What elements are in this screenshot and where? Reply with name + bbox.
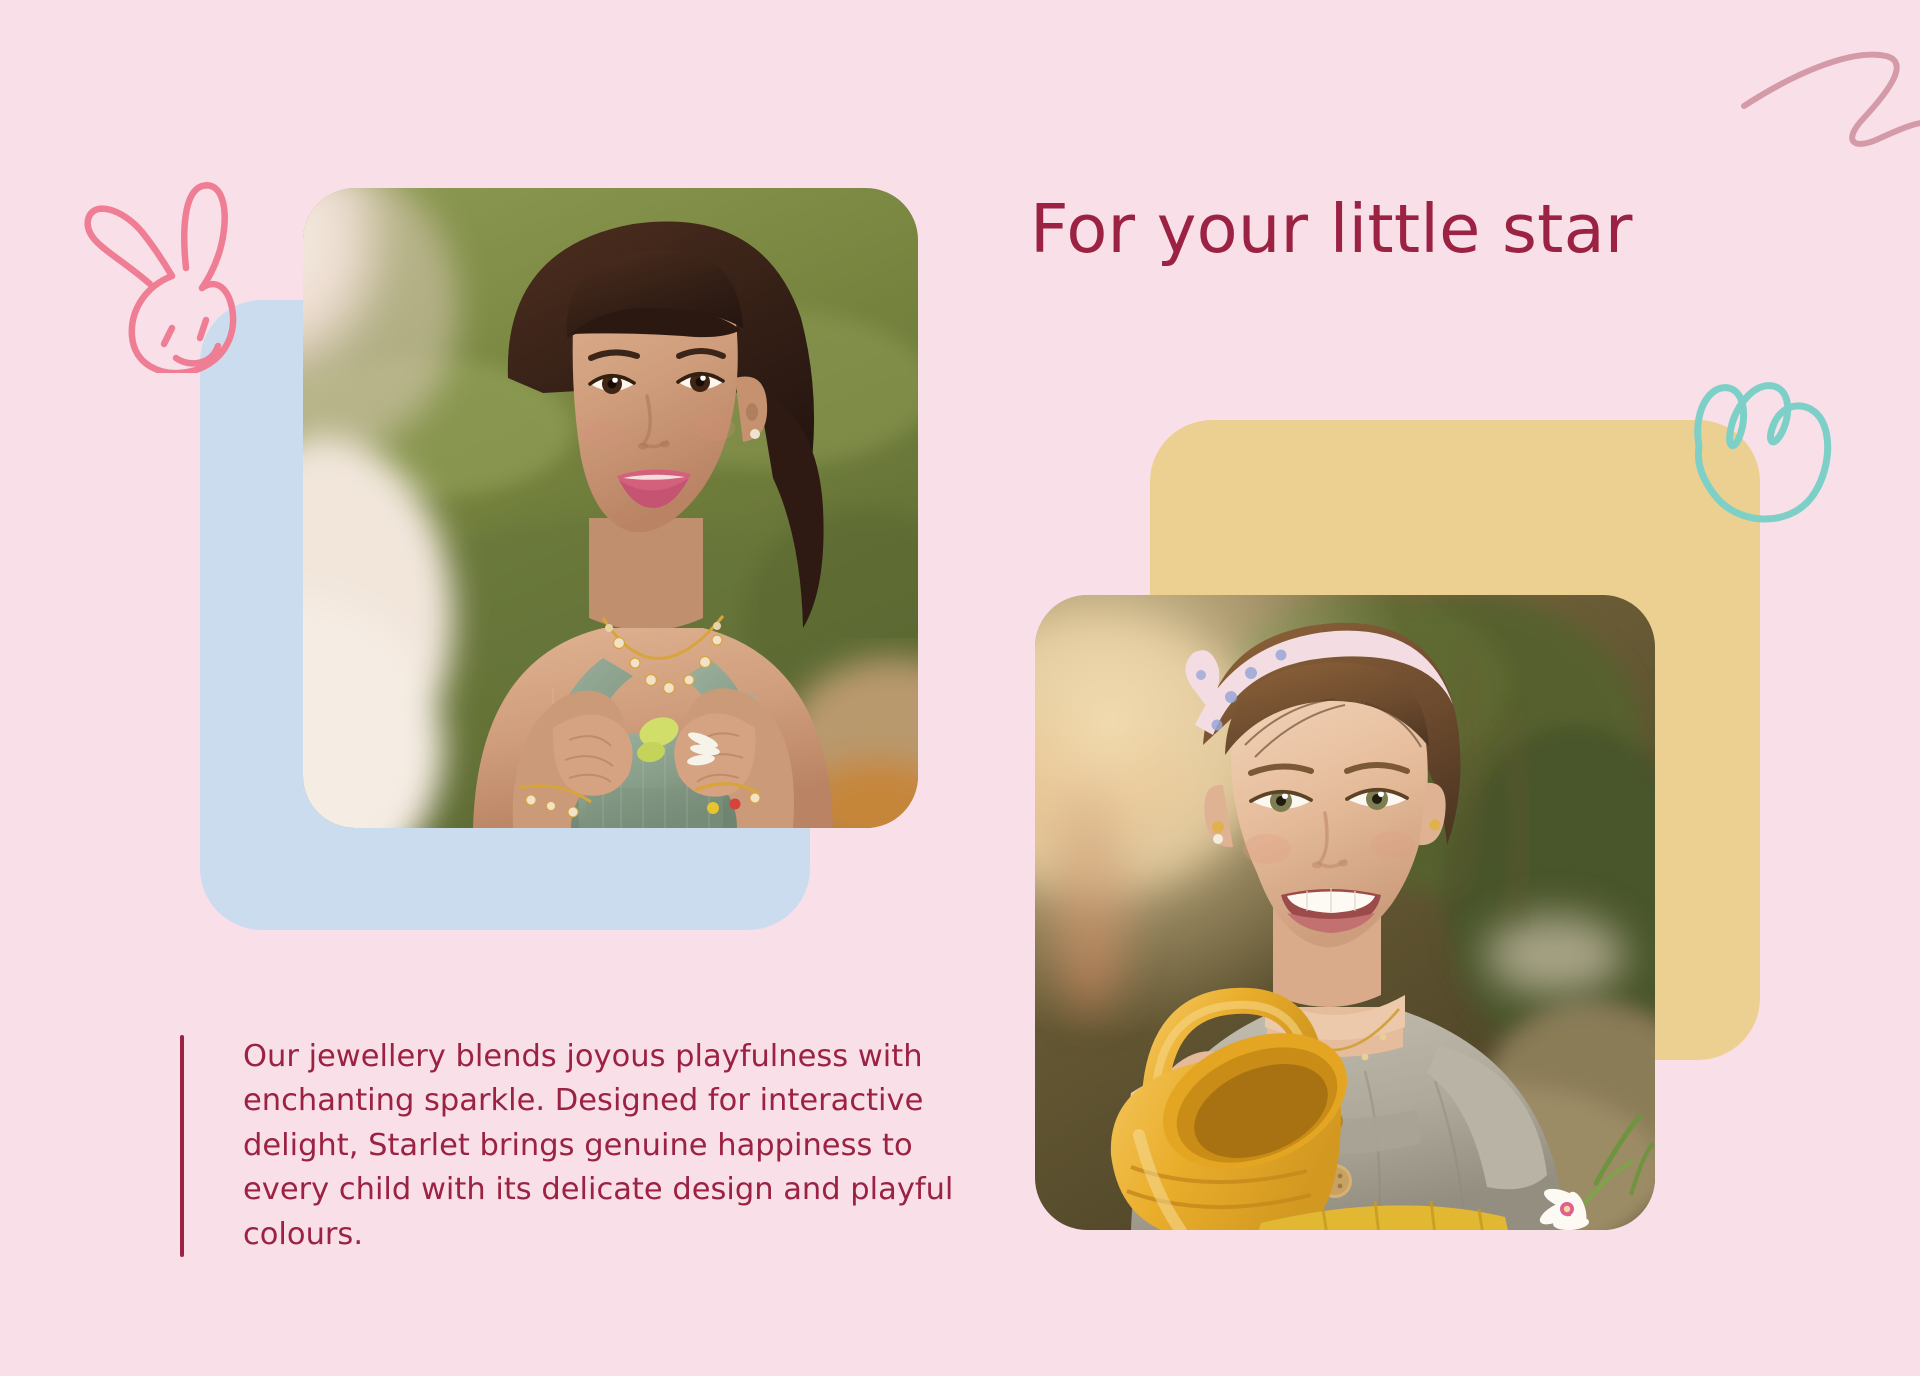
page-title: For your little star bbox=[1030, 190, 1633, 268]
squiggle-line-doodle bbox=[1740, 28, 1920, 178]
body-copy-paragraph: Our jewellery blends joyous playfulness … bbox=[243, 1035, 963, 1257]
girl-with-necklace-photo bbox=[303, 188, 918, 828]
girl-with-watering-can-photo bbox=[1035, 595, 1655, 1230]
body-copy-block: Our jewellery blends joyous playfulness … bbox=[180, 1035, 963, 1257]
body-copy-text: Our jewellery blends joyous playfulness … bbox=[243, 1035, 963, 1257]
accent-rule bbox=[180, 1035, 184, 1257]
poster-canvas: For your little star Our jewellery blend… bbox=[0, 0, 1920, 1376]
